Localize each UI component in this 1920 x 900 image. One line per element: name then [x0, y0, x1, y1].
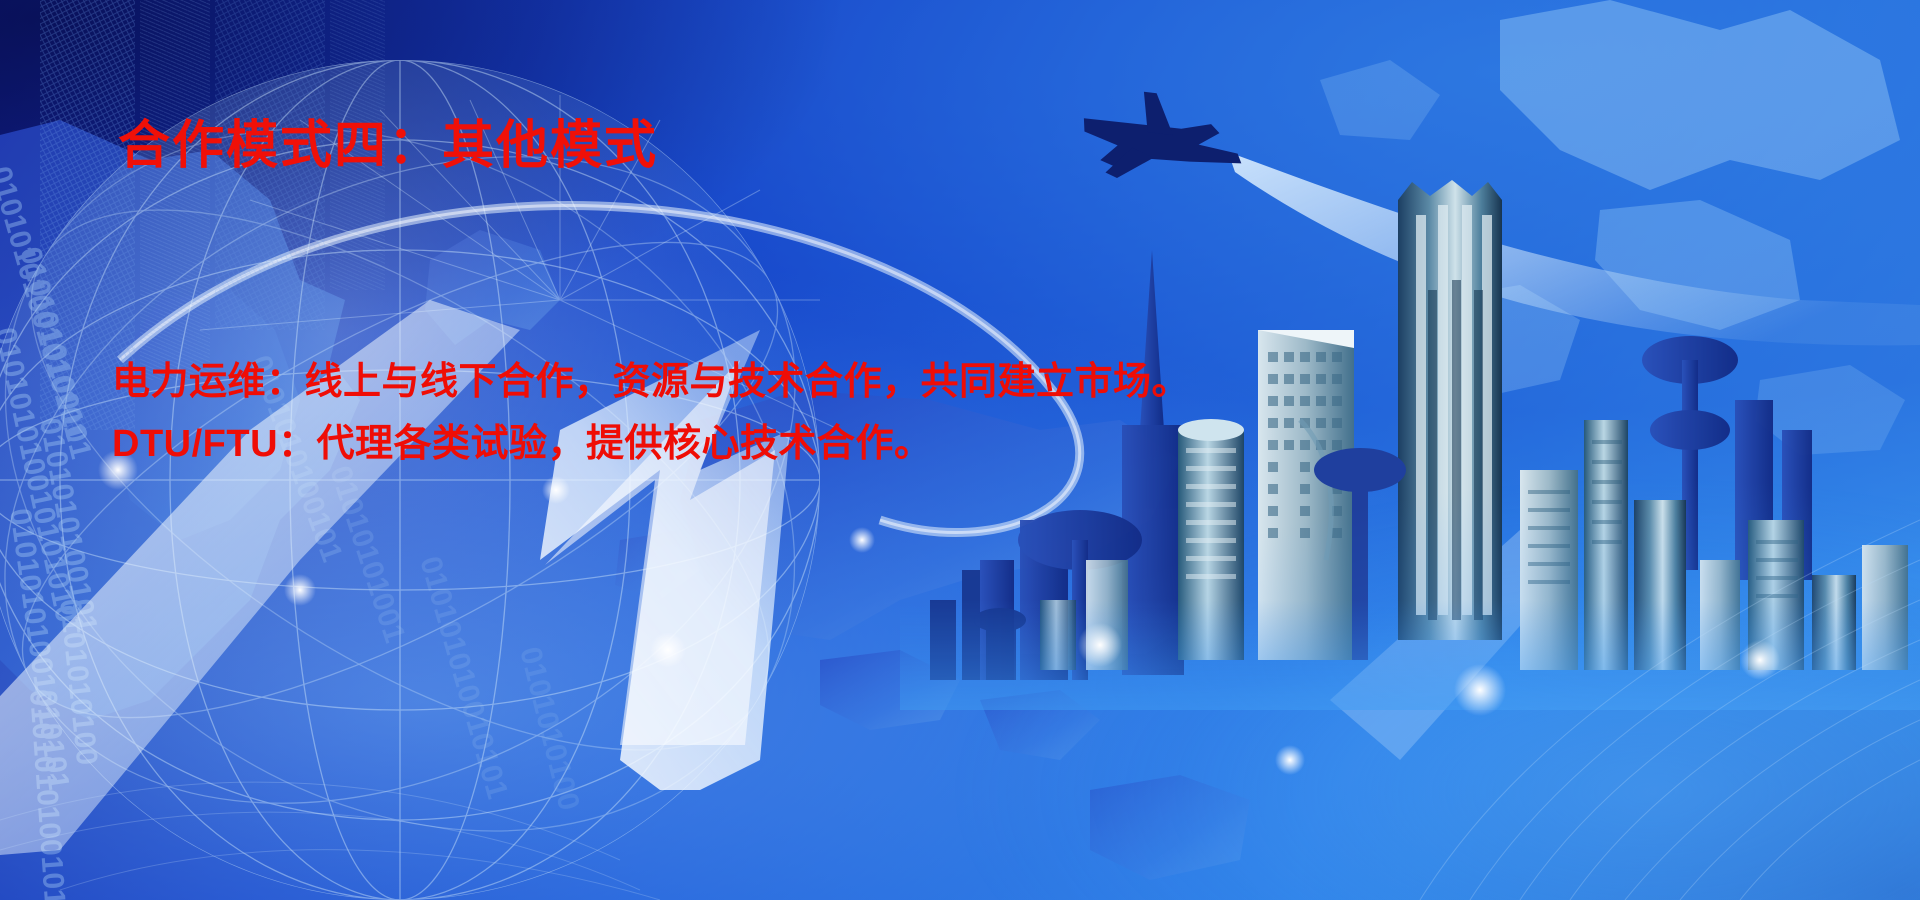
slide-body: 电力运维：线上与线下合作，资源与技术合作，共同建立市场。 DTU/FTU：代理各… [112, 352, 1532, 475]
presentation-slide: 01010101001010101 0101010100101 01010101… [0, 0, 1920, 900]
body-line-2: DTU/FTU：代理各类试验，提供核心技术合作。 [112, 414, 1532, 476]
slide-title: 合作模式四：其他模式 [118, 118, 658, 175]
body-line-1: 电力运维：线上与线下合作，资源与技术合作，共同建立市场。 [112, 352, 1532, 414]
